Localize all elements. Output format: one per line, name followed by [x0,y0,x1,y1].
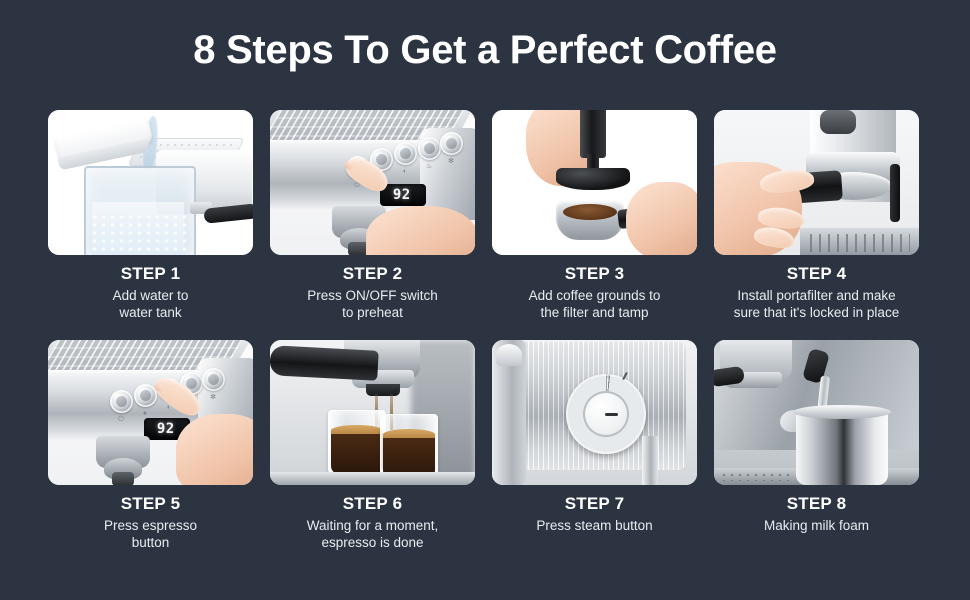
step-5-desc-line2: button [50,534,251,551]
step-1-caption: STEP 1 Add water to water tank [48,255,253,321]
step-7-title: STEP 7 [492,494,697,514]
right-hand [626,182,697,255]
milk-pitcher [796,412,888,485]
step-2-title: STEP 2 [270,264,475,284]
step-card-7: STEP 7 Press steam button [492,340,697,551]
knob-indicator-mark [605,413,618,416]
step-1-image [48,110,253,255]
coffee-steps-infographic: 8 Steps To Get a Perfect Coffee STEP 1 [0,0,970,600]
drip-tray [270,472,475,485]
steam-icon: ❇ [443,158,459,165]
step-7-caption: STEP 7 Press steam button [492,485,697,534]
cup-icon: ● [137,410,153,417]
portafilter-handle [270,345,379,381]
steps-grid: STEP 1 Add water to water tank ⏻ ● [48,110,922,551]
step-4-desc-line1: Install portafilter and make [716,287,917,304]
step-1-desc-line2: water tank [50,304,251,321]
step-card-6: STEP 6 Waiting for a moment, espresso is… [270,340,475,551]
hand [366,206,475,255]
step-1-desc-line1: Add water to [50,287,251,304]
temperature-value: 92 [157,421,175,437]
dual-spout [366,384,400,396]
step-2-image: ⏻ ● ◐ ♨ ❇ 92° [270,110,475,255]
step-6-desc: Waiting for a moment, espresso is done [270,517,475,551]
step-8-desc-line1: Making milk foam [716,517,917,534]
water-tank [84,166,196,255]
step-7-desc-line1: Press steam button [494,517,695,534]
step-card-3: STEP 3 Add coffee grounds to the filter … [492,110,697,321]
step-1-title: STEP 1 [48,264,253,284]
steam-knob[interactable] [566,374,646,454]
step-5-desc: Press espresso button [48,517,253,551]
step-8-caption: STEP 8 Making milk foam [714,485,919,534]
step-3-title: STEP 3 [492,264,697,284]
hot-water-icon: ♨ [421,163,437,170]
step-card-1: STEP 1 Add water to water tank [48,110,253,321]
step-6-title: STEP 6 [270,494,475,514]
double-cup-icon: ◐ [397,168,413,175]
step-3-desc-line2: the filter and tamp [494,304,695,321]
page-title: 8 Steps To Get a Perfect Coffee [0,28,970,73]
step-card-5: ⏻ ● ◐ ♨ ❇ 92° [48,340,253,551]
step-card-2: ⏻ ● ◐ ♨ ❇ 92° [270,110,475,321]
step-5-desc-line1: Press espresso [50,517,251,534]
double-shot-button[interactable] [394,142,417,165]
steam-button[interactable] [440,132,463,155]
step-2-desc-line1: Press ON/OFF switch [272,287,473,304]
step-6-image [270,340,475,485]
step-4-title: STEP 4 [714,264,919,284]
step-6-desc-line2: espresso is done [272,534,473,551]
temperature-value: 92 [393,187,411,203]
espresso [331,434,383,474]
power-button[interactable] [110,390,133,413]
tamper-base [556,168,630,190]
step-8-title: STEP 8 [714,494,919,514]
step-card-8: STEP 8 Making milk foam [714,340,919,551]
step-7-desc: Press steam button [492,517,697,534]
step-3-image [492,110,697,255]
step-2-caption: STEP 2 Press ON/OFF switch to preheat [270,255,475,321]
step-3-desc: Add coffee grounds to the filter and tam… [492,287,697,321]
step-5-title: STEP 5 [48,494,253,514]
step-6-desc-line1: Waiting for a moment, [272,517,473,534]
step-3-caption: STEP 3 Add coffee grounds to the filter … [492,255,697,321]
step-3-desc-line1: Add coffee grounds to [494,287,695,304]
espresso-cup-left [328,410,386,478]
steam-wand [890,164,900,222]
step-1-desc: Add water to water tank [48,287,253,321]
step-2-desc: Press ON/OFF switch to preheat [270,287,475,321]
steam-icon: ❇ [205,394,221,401]
degree-symbol: ° [411,192,413,198]
step-8-desc: Making milk foam [714,517,919,534]
pitcher-rim [793,405,891,419]
step-card-4: STEP 4 Install portafilter and make sure… [714,110,919,321]
step-5-caption: STEP 5 Press espresso button [48,485,253,551]
steam-button[interactable] [202,368,225,391]
step-2-desc-line2: to preheat [272,304,473,321]
portafilter-stub [112,472,134,485]
power-icon: ⏻ [113,416,129,423]
tamper-handle [580,110,606,158]
step-4-desc: Install portafilter and make sure that i… [714,287,919,321]
machine-badge [820,110,856,134]
step-4-desc-line2: sure that it's locked in place [716,304,917,321]
step-7-image [492,340,697,485]
hot-water-button[interactable] [418,137,441,160]
hand [176,414,253,485]
degree-symbol: ° [175,426,177,432]
step-5-image: ⏻ ● ◐ ♨ ❇ 92° [48,340,253,485]
temperature-display: 92° [380,184,426,206]
portafilter-basket [556,200,624,240]
top-cap [496,344,522,366]
drip-tray [800,228,919,255]
step-8-image [714,340,919,485]
step-4-image [714,110,919,255]
step-6-caption: STEP 6 Waiting for a moment, espresso is… [270,485,475,551]
step-4-caption: STEP 4 Install portafilter and make sure… [714,255,919,321]
steam-knob-face [583,391,629,437]
steam-pipe [642,436,658,485]
coffee-grounds [563,204,617,220]
